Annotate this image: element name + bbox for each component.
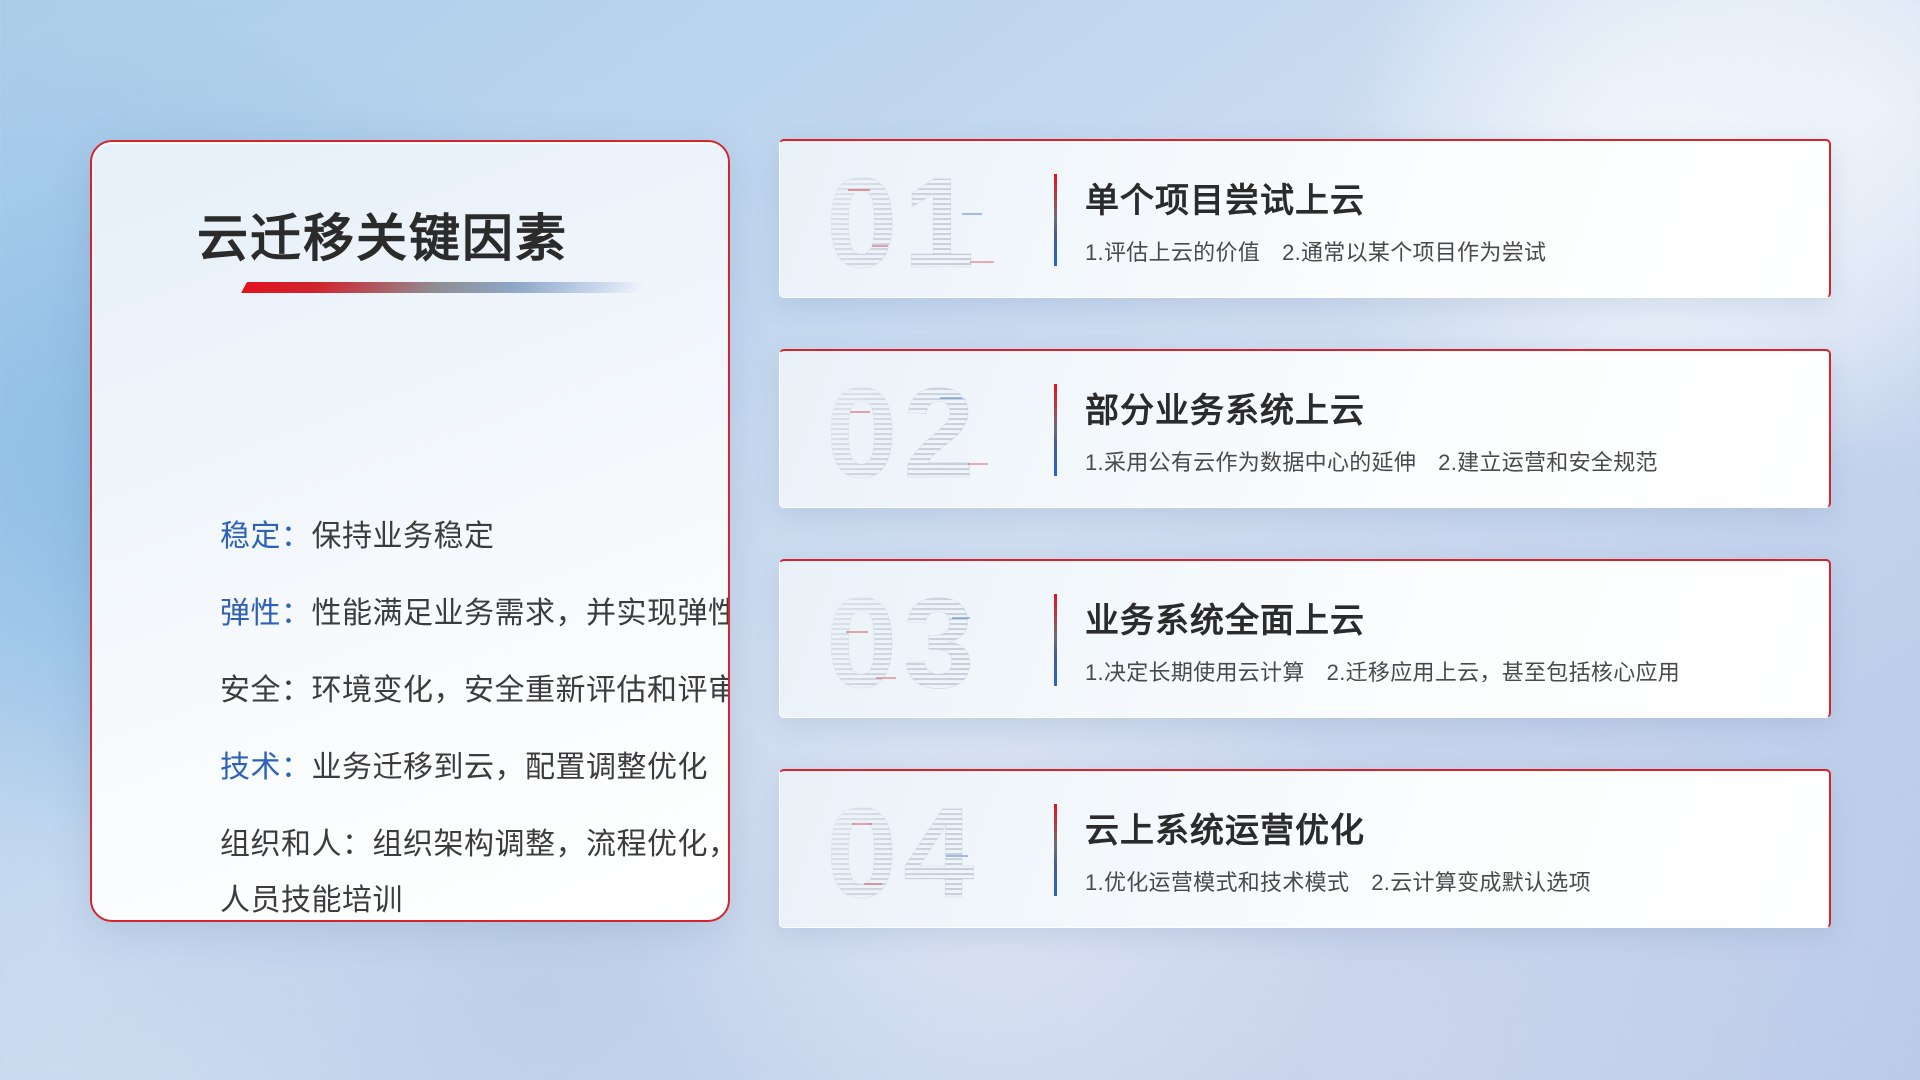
- stage-number-glyph-03: 03 03: [820, 573, 1035, 707]
- svg-text:04: 04: [826, 783, 980, 917]
- stage-desc-point-1: 1.评估上云的价值: [1085, 240, 1260, 265]
- slide-canvas: 云迁移关键因素 稳定：保持业务稳定 弹性：性能满足业务需求，并实现弹性 安全：环…: [0, 0, 1920, 1080]
- title-underline-accent: [241, 282, 647, 293]
- stage-number-glyph-01: 01 01: [820, 153, 1035, 287]
- stage-accent-bar: [1054, 174, 1057, 266]
- stage-number-glyph-04: 04 04: [820, 783, 1035, 917]
- stage-desc-point-2: 2.云计算变成默认选项: [1371, 870, 1591, 895]
- list-item-label: 组织和人：: [220, 828, 373, 861]
- list-item-label: 稳定：: [220, 520, 312, 553]
- list-item-text: 环境变化，安全重新评估和评审: [312, 674, 731, 707]
- stage-desc-point-1: 1.优化运营模式和技术模式: [1085, 870, 1349, 895]
- svg-text:01: 01: [826, 153, 980, 287]
- stage-card-03[interactable]: 03 03 业务系统全面上云 1.决定长期使用云计算2.迁移应用上云，甚至包括核…: [779, 559, 1831, 718]
- list-item: 安全：环境变化，安全重新评估和评审: [220, 676, 688, 706]
- stage-card-04[interactable]: 04 04 云上系统运营优化 1.优化运营模式和技术模式2.云计算变成默认选项: [779, 769, 1831, 928]
- list-item-text: 性能满足业务需求，并实现弹性: [312, 597, 731, 630]
- stage-description: 1.评估上云的价值2.通常以某个项目作为尝试: [1085, 235, 1546, 267]
- stage-desc-point-2: 2.通常以某个项目作为尝试: [1282, 240, 1546, 265]
- stage-accent-bar: [1054, 594, 1057, 686]
- list-item-text-line2: 人员技能培训: [220, 886, 688, 916]
- stage-description: 1.优化运营模式和技术模式2.云计算变成默认选项: [1085, 865, 1591, 897]
- list-item-text: 保持业务稳定: [312, 520, 495, 553]
- stage-accent-bar: [1054, 384, 1057, 476]
- page-title: 云迁移关键因素: [197, 197, 568, 271]
- stage-title: 业务系统全面上云: [1085, 593, 1365, 642]
- list-item-label: 技术：: [220, 751, 312, 784]
- key-factors-card: 云迁移关键因素 稳定：保持业务稳定 弹性：性能满足业务需求，并实现弹性 安全：环…: [90, 140, 730, 922]
- key-factors-list: 稳定：保持业务稳定 弹性：性能满足业务需求，并实现弹性 安全：环境变化，安全重新…: [220, 522, 688, 916]
- stage-title: 云上系统运营优化: [1085, 803, 1365, 852]
- stage-desc-point-1: 1.决定长期使用云计算: [1085, 660, 1305, 685]
- stage-desc-point-2: 2.建立运营和安全规范: [1438, 450, 1658, 475]
- stage-number-glyph-02: 02 02: [820, 363, 1035, 497]
- list-item: 组织和人：组织架构调整，流程优化， 人员技能培训: [220, 830, 688, 916]
- list-item: 稳定：保持业务稳定: [220, 522, 688, 552]
- stage-title: 部分业务系统上云: [1085, 383, 1365, 432]
- stage-desc-point-2: 2.迁移应用上云，甚至包括核心应用: [1327, 660, 1680, 685]
- list-item: 技术：业务迁移到云，配置调整优化: [220, 753, 688, 783]
- list-item-label: 安全：: [220, 674, 312, 707]
- svg-text:03: 03: [826, 573, 980, 707]
- svg-text:02: 02: [826, 363, 980, 497]
- list-item-label: 弹性：: [220, 597, 312, 630]
- stage-accent-bar: [1054, 804, 1057, 896]
- list-item-text: 组织架构调整，流程优化，: [373, 828, 731, 861]
- stage-description: 1.采用公有云作为数据中心的延伸2.建立运营和安全规范: [1085, 445, 1658, 477]
- stage-card-02[interactable]: 02 02 部分业务系统上云 1.采用公有云作为数据中心的延伸2.建立运营和安全…: [779, 349, 1831, 508]
- list-item-text: 业务迁移到云，配置调整优化: [312, 751, 709, 784]
- stage-card-01[interactable]: 01 01 单个项目尝试上云 1.评估上云的价值2.通常以某个项目作为尝试: [779, 139, 1831, 298]
- list-item: 弹性：性能满足业务需求，并实现弹性: [220, 599, 688, 629]
- stage-title: 单个项目尝试上云: [1085, 173, 1365, 222]
- stage-description: 1.决定长期使用云计算2.迁移应用上云，甚至包括核心应用: [1085, 655, 1680, 687]
- stage-desc-point-1: 1.采用公有云作为数据中心的延伸: [1085, 450, 1416, 475]
